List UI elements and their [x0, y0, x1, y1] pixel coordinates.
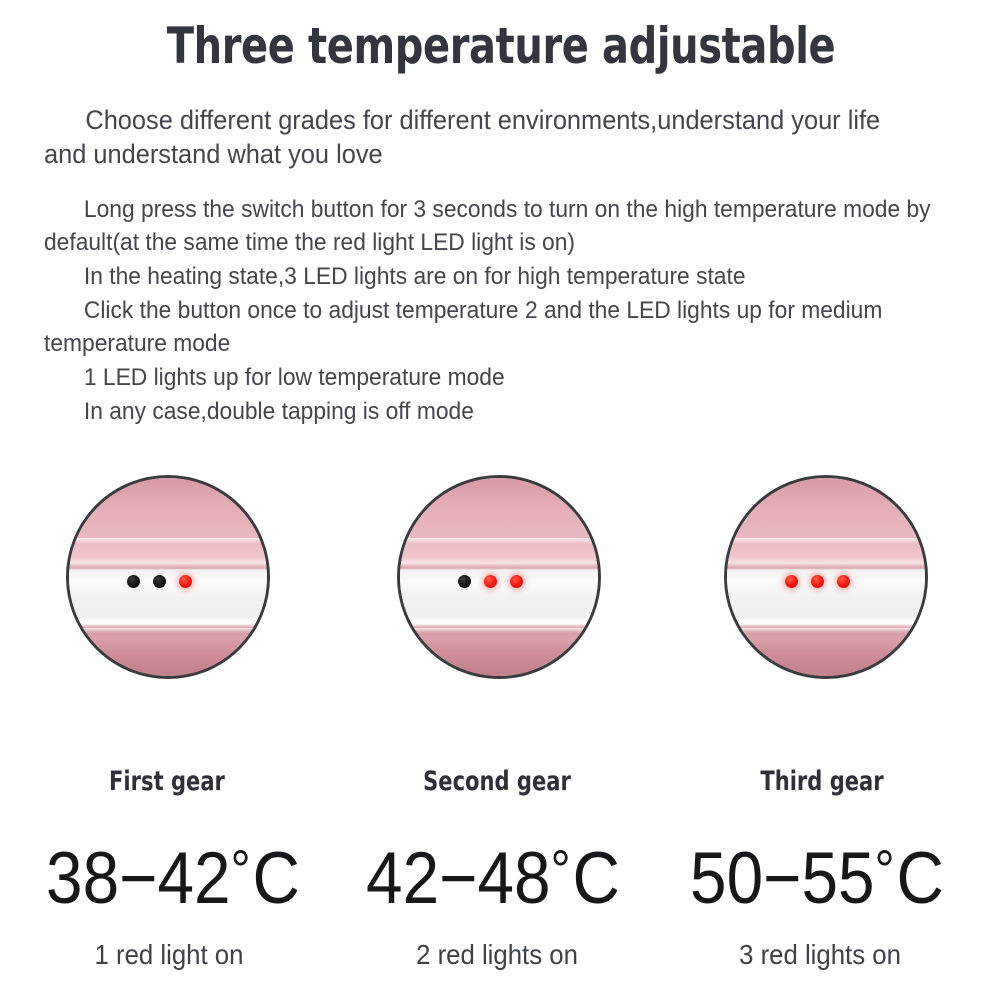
caption-row: 1 red light on 2 red lights on 3 red lig…	[0, 937, 1002, 982]
led-indicator-2	[811, 575, 824, 588]
led-indicator-strip	[785, 573, 875, 589]
temperature-first-gear: 38−42°C	[23, 825, 324, 924]
device-circle-second-gear	[397, 475, 601, 679]
temperature-third-gear: 50−55°C	[667, 825, 968, 924]
led-indicator-3	[179, 575, 192, 588]
device-illustration-row	[0, 470, 1002, 685]
temperature-unit: C	[253, 838, 300, 919]
device-circle-third-gear	[724, 475, 928, 679]
gear-name-third: Third gear	[692, 765, 953, 799]
led-indicator-3	[510, 575, 523, 588]
instructions-list: Long press the switch button for 3 secon…	[44, 193, 984, 429]
instruction-line: 1 LED lights up for low temperature mode	[44, 361, 937, 394]
device-column-third-gear	[661, 470, 995, 685]
temperature-unit: C	[573, 838, 620, 919]
led-indicator-1	[785, 575, 798, 588]
caption-second-gear: 2 red lights on	[343, 937, 650, 973]
instruction-line: In the heating state,3 LED lights are on…	[44, 260, 937, 293]
device-column-second-gear	[334, 470, 668, 685]
degree-symbol: °	[231, 838, 251, 901]
led-indicator-1	[127, 575, 140, 588]
temperature-unit: C	[897, 838, 944, 919]
led-indicator-1	[458, 575, 471, 588]
device-circle-first-gear	[66, 475, 270, 679]
instruction-line: In any case,double tapping is off mode	[44, 395, 937, 428]
gear-name-first: First gear	[37, 765, 298, 799]
temperature-range-value: 50−55	[690, 838, 875, 919]
temperature-row: 38−42°C 42−48°C 50−55°C	[0, 825, 1002, 920]
page-title: Three temperature adjustable	[100, 16, 902, 76]
degree-symbol: °	[551, 838, 571, 901]
temperature-range-value: 42−48	[366, 838, 551, 919]
caption-first-gear: 1 red light on	[15, 937, 322, 973]
gear-name-row: First gear Second gear Third gear	[0, 765, 1002, 805]
page-subtitle: Choose different grades for different en…	[44, 103, 918, 171]
temperature-range-value: 38−42	[46, 838, 231, 919]
led-indicator-2	[153, 575, 166, 588]
degree-symbol: °	[875, 838, 895, 901]
led-indicator-strip	[458, 573, 548, 589]
led-indicator-3	[837, 575, 850, 588]
instruction-line: Click the button once to adjust temperat…	[44, 294, 937, 360]
device-column-first-gear	[3, 470, 337, 685]
instruction-line: Long press the switch button for 3 secon…	[44, 193, 937, 259]
caption-third-gear: 3 red lights on	[666, 937, 973, 973]
temperature-second-gear: 42−48°C	[343, 825, 644, 924]
infographic-page: Three temperature adjustable Choose diff…	[0, 0, 1002, 1002]
led-indicator-strip	[127, 573, 217, 589]
gear-name-second: Second gear	[367, 765, 628, 799]
led-indicator-2	[484, 575, 497, 588]
